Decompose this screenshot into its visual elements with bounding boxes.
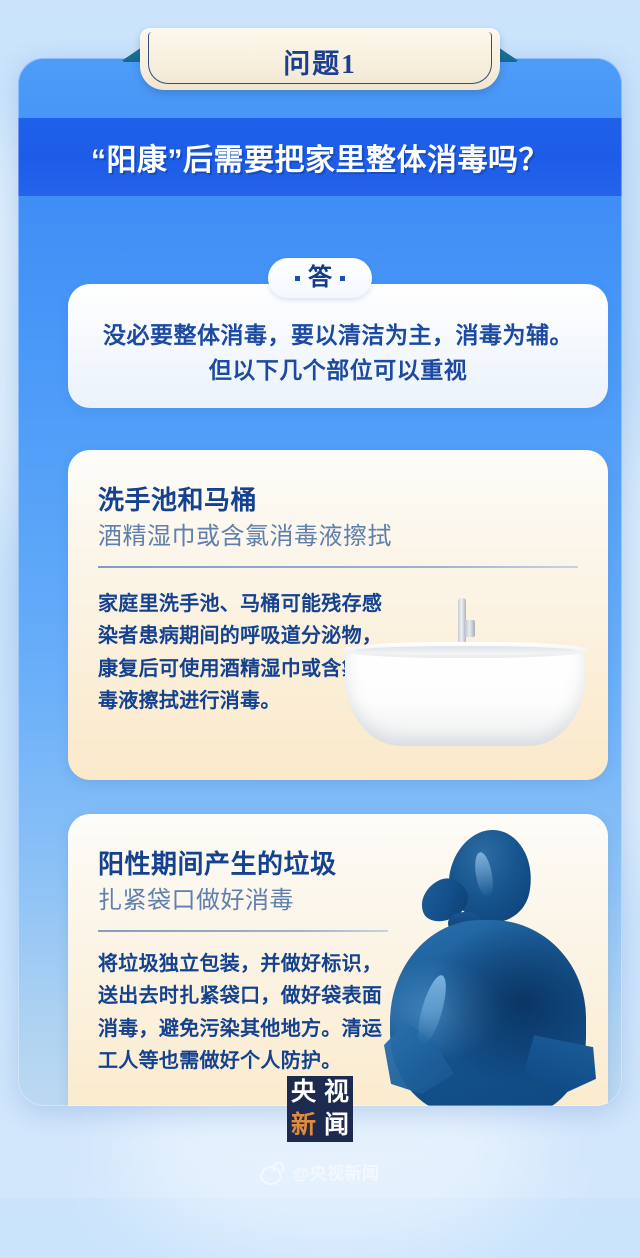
card-2-divider <box>98 930 388 932</box>
weibo-icon <box>260 1162 284 1182</box>
ribbon-label: 问题1 <box>140 28 500 90</box>
bathtub-body <box>345 646 585 746</box>
logo-char-3: 新 <box>291 1113 316 1138</box>
card-1-heading: 洗手池和马桶 <box>98 480 257 517</box>
bathtub-basin <box>354 646 576 655</box>
weibo-watermark: @央视新闻 <box>260 1159 379 1184</box>
card-2-body: 将垃圾独立包装，并做好标识，送出去时扎紧袋口，做好袋表面消毒，避免污染其他地方。… <box>98 948 398 1078</box>
question-title: “阳康”后需要把家里整体消毒吗？ <box>18 118 622 196</box>
answer-badge-label: 答 <box>308 266 332 290</box>
faucet-head-icon <box>464 620 475 637</box>
logo-char-2: 视 <box>324 1080 349 1105</box>
poster-panel: “阳康”后需要把家里整体消毒吗？ 答 没必要整体消毒，要以清洁为主，消毒为辅。 … <box>18 58 622 1106</box>
card-1-subheading: 酒精湿巾或含氯消毒液擦拭 <box>98 516 392 551</box>
weibo-handle: @央视新闻 <box>292 1159 379 1184</box>
content-card-sink-toilet: 洗手池和马桶 酒精湿巾或含氯消毒液擦拭 家庭里洗手池、马桶可能残存感染者患病期间… <box>68 450 608 780</box>
badge-dot-right <box>340 276 345 281</box>
card-1-divider <box>98 566 578 568</box>
logo-char-1: 央 <box>291 1080 316 1105</box>
content-card-waste: 阳性期间产生的垃圾 扎紧袋口做好消毒 将垃圾独立包装，并做好标识，送出去时扎紧袋… <box>68 814 608 1106</box>
answer-line-2: 但以下几个部位可以重视 <box>94 353 582 388</box>
question-ribbon: 问题1 <box>140 28 500 90</box>
answer-badge: 答 <box>268 258 372 298</box>
card-2-heading: 阳性期间产生的垃圾 <box>98 844 337 881</box>
card-2-subheading: 扎紧袋口做好消毒 <box>98 880 294 915</box>
bathtub-icon <box>340 590 590 760</box>
cctv-news-logo: 央 视 新 闻 <box>287 1076 353 1142</box>
trash-bag-icon <box>388 824 598 1106</box>
badge-dot-left <box>295 276 300 281</box>
logo-char-4: 闻 <box>324 1113 349 1138</box>
answer-line-1: 没必要整体消毒，要以清洁为主，消毒为辅。 <box>94 318 582 353</box>
answer-box: 没必要整体消毒，要以清洁为主，消毒为辅。 但以下几个部位可以重视 <box>68 284 608 408</box>
